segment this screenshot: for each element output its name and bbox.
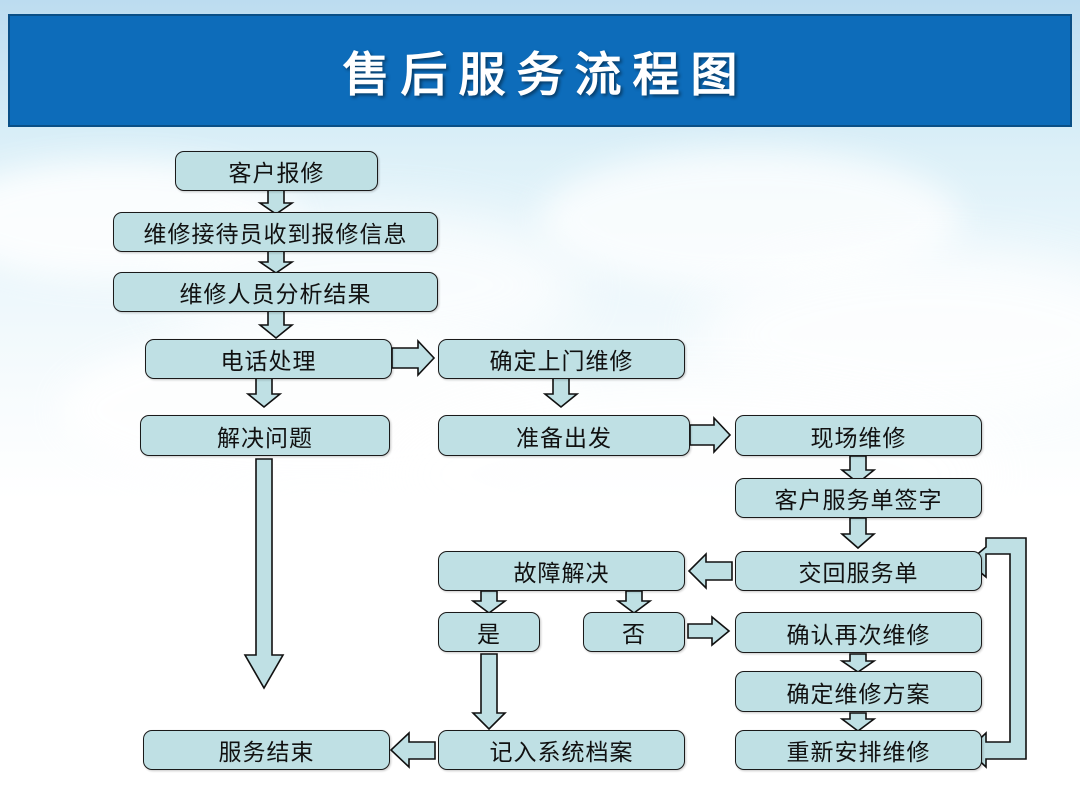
arrow-down-yes-to-archive <box>473 654 505 729</box>
arrow-down-solved-to-end <box>245 459 283 688</box>
node-confirm-onsite[interactable]: 确定上门维修 <box>438 339 685 379</box>
node-onsite-repair[interactable]: 现场维修 <box>735 415 982 456</box>
node-customer-report[interactable]: 客户报修 <box>175 151 378 191</box>
arrow-down-phone-to-solved <box>248 378 280 407</box>
node-reschedule-repair[interactable]: 重新安排维修 <box>735 730 982 770</box>
node-phone-handling[interactable]: 电话处理 <box>145 339 392 379</box>
node-yes[interactable]: 是 <box>438 612 540 652</box>
arrow-right-phone-to-onsite-confirm <box>392 341 434 375</box>
node-service-sheet-sign[interactable]: 客户服务单签字 <box>735 478 982 518</box>
node-no[interactable]: 否 <box>583 612 685 652</box>
node-fault-resolved[interactable]: 故障解决 <box>438 551 685 591</box>
node-prepare-departure[interactable]: 准备出发 <box>438 415 690 456</box>
arrow-down-sign-to-return <box>842 518 874 548</box>
arrow-down-fault-to-no <box>618 591 650 613</box>
node-receptionist-receive[interactable]: 维修接待员收到报修信息 <box>113 212 438 252</box>
arrow-left-archive-to-end <box>391 733 435 767</box>
node-problem-solved[interactable]: 解决问题 <box>140 415 390 456</box>
arrow-right-prepare-to-onsite <box>690 418 730 452</box>
node-confirm-repair-plan[interactable]: 确定维修方案 <box>735 671 982 712</box>
arrow-down-report-to-reception <box>260 190 292 214</box>
arrow-down-analyze-to-phone <box>260 311 292 338</box>
arrow-right-no-to-confirm-rerepair <box>688 617 729 645</box>
node-record-archive[interactable]: 记入系统档案 <box>438 730 685 770</box>
flowchart-canvas: 售后服务流程图 <box>0 0 1080 810</box>
arrow-down-plan-to-reschedule <box>842 713 874 731</box>
node-service-end[interactable]: 服务结束 <box>143 730 390 770</box>
arrow-down-confirm-to-prepare <box>545 378 577 407</box>
node-return-service-sheet[interactable]: 交回服务单 <box>735 551 982 591</box>
node-technician-analyze[interactable]: 维修人员分析结果 <box>113 272 438 312</box>
arrow-down-fault-to-yes <box>473 591 505 613</box>
arrow-down-reception-to-analyze <box>260 250 292 273</box>
arrow-down-rerepair-to-plan <box>842 654 874 672</box>
arrow-left-return-to-fault <box>689 554 732 588</box>
node-confirm-rerepair[interactable]: 确认再次维修 <box>735 612 982 653</box>
